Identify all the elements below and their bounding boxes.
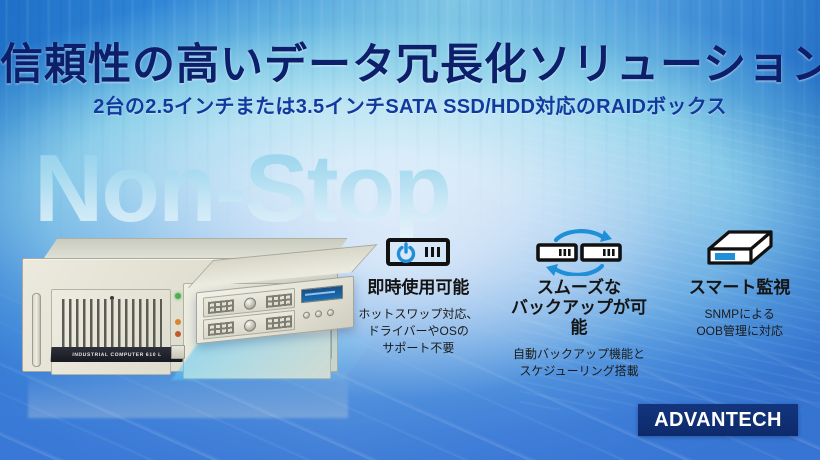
headline: 信頼性の高いデータ冗長化ソリューション	[0, 30, 820, 92]
feature-body: SNMPによる OOB管理に対応	[663, 306, 816, 340]
feature-title: スマート監視	[663, 278, 816, 298]
chassis-led-hdd	[175, 319, 181, 325]
feature-list: 即時使用可能 ホットスワップ対応、 ドライバーやOSの サポート不要	[338, 228, 820, 388]
advantech-logo: ADVANTECH	[638, 404, 798, 436]
power-drive-icon	[342, 228, 495, 276]
feature-body: ホットスワップ対応、 ドライバーやOSの サポート不要	[342, 306, 495, 357]
chassis-buttons	[171, 345, 185, 359]
feature-body: 自動バックアップ機能と スケジューリング搭載	[503, 346, 656, 380]
raid-bay-vent-2a	[208, 321, 234, 336]
chassis-model-label: INDUSTRIAL COMPUTER 610 L	[51, 347, 184, 362]
feature-item-smart-monitoring: スマート監視 SNMPによる OOB管理に対応	[659, 228, 820, 388]
chassis-vent-panel	[51, 289, 171, 375]
chassis-led-alarm	[175, 331, 181, 337]
feature-item-instant-use: 即時使用可能 ホットスワップ対応、 ドライバーやOSの サポート不要	[338, 228, 499, 388]
banner-header: 信頼性の高いデータ冗長化ソリューション 2台の2.5インチまたは3.5インチSA…	[0, 0, 820, 130]
raid-lcd-display	[301, 285, 343, 303]
raid-bay-latch-2	[244, 319, 256, 332]
feature-title: スムーズな バックアップが可能	[503, 278, 656, 338]
raid-bay-latch-1	[244, 297, 256, 310]
raid-bay-vent-2b	[266, 315, 292, 330]
subheadline: 2台の2.5インチまたは3.5インチSATA SSD/HDD対応のRAIDボック…	[0, 90, 820, 119]
raid-bay-vent-1a	[208, 299, 234, 314]
promo-banner: 信頼性の高いデータ冗長化ソリューション 2台の2.5インチまたは3.5インチSA…	[0, 0, 820, 460]
raid-bay-vent-1b	[266, 293, 292, 308]
sync-drives-icon	[503, 228, 656, 276]
smart-monitor-box-icon	[663, 228, 816, 276]
chassis-led-power	[175, 293, 181, 299]
product-image: INDUSTRIAL COMPUTER 610 L	[18, 238, 358, 413]
feature-title: 即時使用可能	[342, 278, 495, 298]
advantech-logo-text: ADVANTECH	[654, 409, 782, 432]
chassis-handle-left	[32, 293, 41, 367]
product-reflection	[28, 370, 348, 418]
feature-item-smooth-backup: スムーズな バックアップが可能 自動バックアップ機能と スケジューリング搭載	[499, 228, 660, 388]
